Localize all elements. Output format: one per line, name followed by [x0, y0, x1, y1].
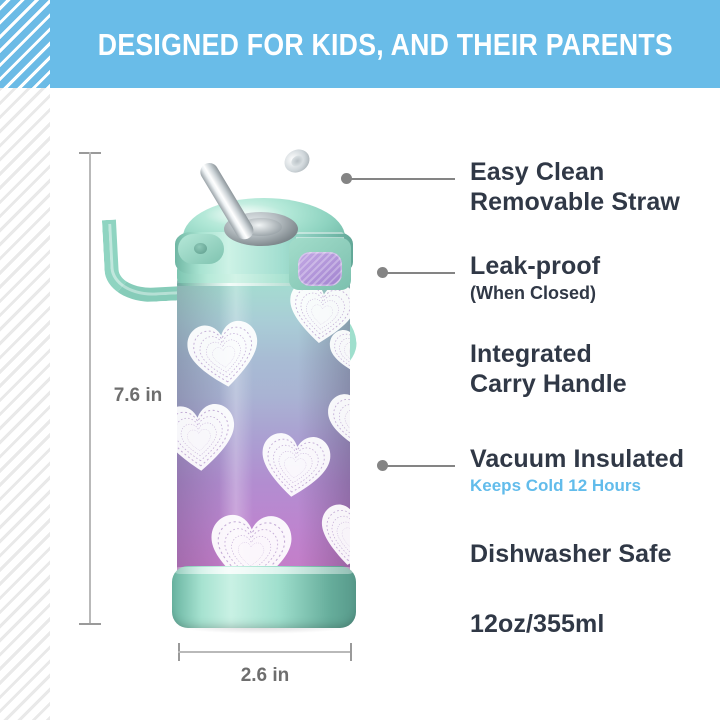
- feature-title: Easy Clean: [470, 158, 680, 188]
- feature-vacuum-insulated: Vacuum InsulatedKeeps Cold 12 Hours: [470, 445, 684, 496]
- width-dimension-label: 2.6 in: [175, 665, 355, 687]
- feature-title: Integrated: [470, 340, 627, 370]
- feature-title: Vacuum Insulated: [470, 445, 684, 475]
- feature-title-line2: Removable Straw: [470, 188, 680, 218]
- leader-stroke: [350, 178, 455, 180]
- feature-capacity: 12oz/355ml: [470, 610, 604, 640]
- bottle-base-highlight: [174, 567, 354, 574]
- bottle-body: [177, 272, 350, 582]
- feature-easy-clean-removable-straw: Easy CleanRemovable Straw: [470, 158, 680, 217]
- feature-title: Leak-proof: [470, 252, 600, 282]
- leader-stroke: [386, 272, 455, 274]
- heart-motif: [322, 387, 350, 457]
- product-illustration: 7.6 in 2.6 in: [0, 0, 440, 720]
- leader-line-leak-proof: [377, 264, 455, 278]
- heart-motif: [177, 399, 241, 476]
- feature-subtitle: Keeps Cold 12 Hours: [470, 476, 684, 496]
- height-dimension-label: 7.6 in: [98, 385, 178, 407]
- infographic-canvas: DESIGNED FOR KIDS, AND THEIR PARENTS: [0, 0, 720, 720]
- feature-list: Easy CleanRemovable StrawLeak-proof(When…: [470, 0, 720, 720]
- feature-leak-proof: Leak-proof(When Closed): [470, 252, 600, 304]
- bottle-base-ring: [172, 566, 356, 628]
- heart-motif: [181, 315, 268, 395]
- leader-line-easy-clean-removable-straw: [341, 170, 455, 184]
- feature-title: 12oz/355ml: [470, 610, 604, 640]
- feature-title: Dishwasher Safe: [470, 540, 672, 570]
- feature-integrated-carry-handle: IntegratedCarry Handle: [470, 340, 627, 399]
- leader-line-vacuum-insulated: [377, 457, 455, 471]
- feature-subtitle: (When Closed): [470, 283, 600, 305]
- height-dimension-line: [89, 152, 91, 625]
- push-button[interactable]: [298, 252, 342, 286]
- height-dimension-cap-bottom: [79, 623, 101, 625]
- feature-dishwasher-safe: Dishwasher Safe: [470, 540, 672, 570]
- width-dimension-cap-right: [350, 643, 352, 661]
- feature-title-line2: Carry Handle: [470, 370, 627, 400]
- handle-hinge-pin: [194, 243, 207, 254]
- heart-motif: [253, 428, 337, 505]
- width-dimension-line: [178, 651, 352, 653]
- leader-stroke: [386, 465, 455, 467]
